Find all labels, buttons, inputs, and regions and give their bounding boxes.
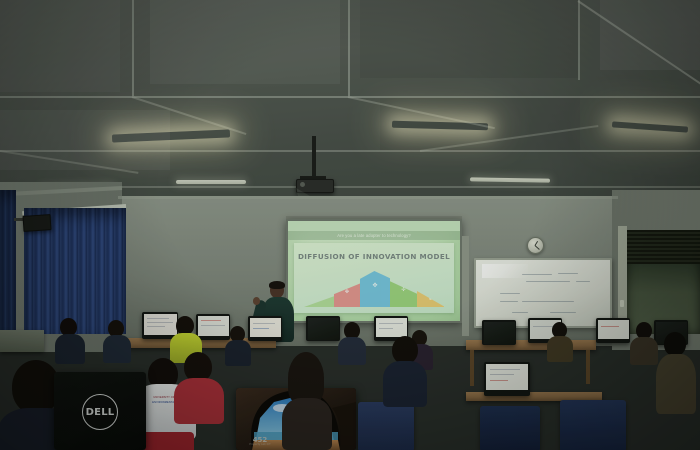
asset-tag-452: 452 Property Lab ICT: [240, 436, 280, 447]
wall-pillar-left: [462, 236, 469, 336]
presenter-hair: [269, 281, 285, 289]
monitor-back-1: [142, 312, 178, 339]
slide-question-band: [288, 221, 460, 231]
segment-icon-late-majority: ✣: [401, 288, 405, 293]
ceiling-light-6: [470, 177, 550, 182]
curve-segment-laggards: ❀: [417, 290, 444, 307]
chair-right-2: [560, 400, 626, 450]
dell-monitor-foreground: DELL: [54, 372, 146, 450]
light-switch: [620, 300, 624, 307]
classroom-photo: Are you a late adopter to technology? DI…: [0, 0, 700, 450]
monitor-back-4: [306, 316, 340, 341]
monitor-back-2: [196, 314, 230, 340]
side-cabinet: [0, 330, 44, 352]
desk-leg-2: [586, 350, 590, 384]
segment-icon-laggards: ❀: [429, 297, 432, 301]
monitor-back-8: [596, 318, 630, 343]
slide-title: DIFFUSION OF INNOVATION MODEL: [294, 252, 454, 261]
dell-logo: DELL: [82, 394, 118, 430]
monitor-back-6: [482, 320, 516, 345]
projector-lens: [300, 182, 305, 187]
wall-cornice: [118, 196, 618, 199]
curve-segment-early-adopters: ✤: [334, 279, 360, 307]
window-louvres: [627, 230, 700, 264]
ceiling-light-5: [176, 180, 246, 184]
corner-window-alcove: [627, 230, 700, 334]
monitor-mid-right-1: [484, 362, 530, 396]
diffusion-curve: ✤ ✥ ✣ ❀: [304, 269, 444, 307]
asset-tag-sub: Property Lab ICT: [240, 444, 280, 447]
desk-leg-1: [470, 350, 474, 386]
segment-icon-early-majority: ✥: [372, 283, 377, 289]
ceiling-light-3: [612, 121, 688, 132]
monitor-back-3: [248, 316, 282, 341]
curve-segment-innovators: [304, 292, 334, 307]
wall-speaker: [22, 214, 51, 232]
segment-icon-early-adopters: ✤: [345, 290, 349, 295]
chair-right-1: [358, 402, 414, 450]
wall-clock: [527, 237, 544, 254]
curve-segment-early-majority: ✥: [360, 271, 390, 307]
presenter-hand: [253, 297, 260, 305]
curve-segment-late-majority: ✣: [390, 277, 417, 307]
slide-card: DIFFUSION OF INNOVATION MODEL ✤ ✥ ✣: [294, 243, 454, 313]
chair-mid: [480, 406, 540, 450]
slide-question-text: Are you a late adopter to technology?: [288, 233, 460, 238]
projection-screen: Are you a late adopter to technology? DI…: [288, 221, 460, 321]
window-curtain-side: [0, 190, 16, 340]
projector-mount-pole: [312, 136, 316, 180]
